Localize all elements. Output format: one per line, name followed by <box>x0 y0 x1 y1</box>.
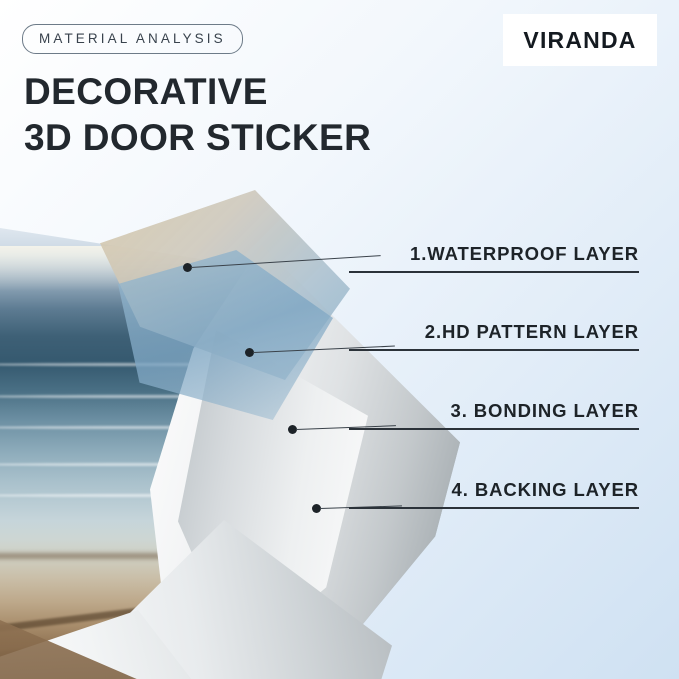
callout-4-label: 4. BACKING LAYER <box>349 479 639 507</box>
page-title-line-1: DECORATIVE <box>24 71 268 113</box>
page-title-line-2: 3D DOOR STICKER <box>24 117 371 159</box>
callout-4: 4. BACKING LAYER <box>349 479 639 509</box>
callout-3: 3. BONDING LAYER <box>349 400 639 430</box>
callout-3-label: 3. BONDING LAYER <box>349 400 639 428</box>
callout-3-rule <box>349 428 639 430</box>
callout-1-rule <box>349 271 639 273</box>
callout-2-label: 2.HD PATTERN LAYER <box>349 321 639 349</box>
callout-4-rule <box>349 507 639 509</box>
brand-logo-box: VIRANDA <box>503 14 657 66</box>
eyebrow-badge: MATERIAL ANALYSIS <box>22 24 243 54</box>
callout-1: 1.WATERPROOF LAYER <box>349 243 639 273</box>
callout-1-label: 1.WATERPROOF LAYER <box>349 243 639 271</box>
callout-2-rule <box>349 349 639 351</box>
callout-2: 2.HD PATTERN LAYER <box>349 321 639 351</box>
brand-name: VIRANDA <box>523 27 636 54</box>
poster-canvas: MATERIAL ANALYSIS DECORATIVE 3D DOOR STI… <box>0 0 679 679</box>
